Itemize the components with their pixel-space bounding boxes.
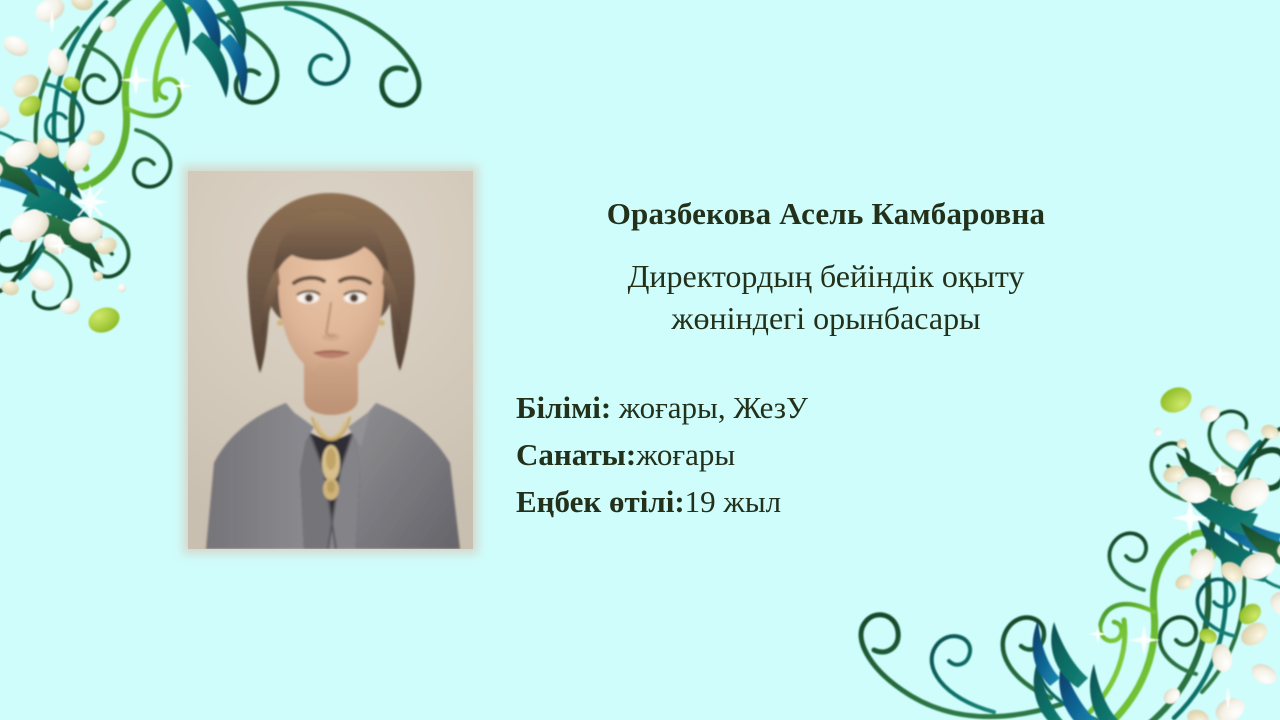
detail-label-category: Санаты:: [516, 437, 636, 472]
detail-row-category: Санаты:жоғары: [516, 431, 1162, 478]
position-line-2: жөніндегі орынбасары: [490, 297, 1162, 340]
detail-row-experience: Еңбек өтілі:19 жыл: [516, 478, 1162, 525]
detail-row-education: Білімі: жоғары, ЖезУ: [516, 384, 1162, 431]
slide: Оразбекова Асель Камбаровна Директордың …: [0, 0, 1280, 720]
detail-value-education: жоғары, ЖезУ: [611, 390, 808, 425]
detail-label-experience: Еңбек өтілі:: [516, 484, 685, 519]
detail-label-education: Білімі:: [516, 390, 611, 425]
detail-value-category: жоғары: [636, 437, 735, 472]
detail-value-experience: 19 жыл: [685, 484, 781, 519]
details-list: Білімі: жоғары, ЖезУ Санаты:жоғары Еңбек…: [516, 384, 1162, 525]
portrait-photo: [188, 171, 473, 549]
position-line-1: Директордың бейіндік оқыту: [490, 255, 1162, 298]
person-position: Директордың бейіндік оқыту жөніндегі оры…: [490, 255, 1162, 340]
person-name: Оразбекова Асель Камбаровна: [490, 196, 1162, 233]
portrait-illustration: [188, 171, 473, 549]
text-column: Оразбекова Асель Камбаровна Директордың …: [490, 196, 1162, 525]
